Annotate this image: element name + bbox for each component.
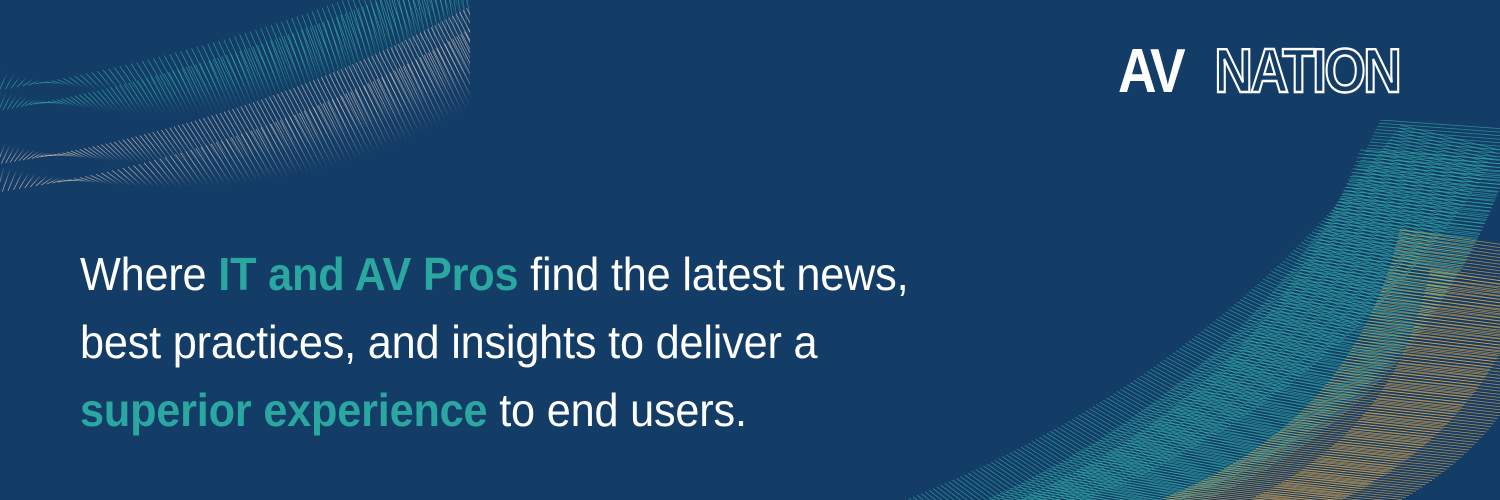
logo-text-nation: NATION (1214, 40, 1399, 104)
headline-line-2: best practices, and insights to deliver … (80, 308, 1039, 376)
headline-line1-segment-plain-b: find the latest news, (518, 248, 908, 300)
headline-block: Where IT and AV Pros find the latest new… (80, 240, 1100, 444)
logo-text-av: AV (1118, 40, 1186, 104)
headline-line2-segment-plain: best practices, and insights to deliver … (80, 316, 817, 368)
headline-line1-segment-plain-a: Where (80, 248, 218, 300)
headline-line1-segment-accent: IT and AV Pros (218, 248, 518, 300)
avnation-banner: AV NATION Where IT and AV Pros find the … (0, 0, 1500, 500)
avnation-logo[interactable]: AV NATION (1118, 40, 1454, 104)
headline-line3-segment-plain: to end users. (487, 384, 746, 436)
headline-line-3: superior experience to end users. (80, 376, 1039, 444)
headline-line-1: Where IT and AV Pros find the latest new… (80, 240, 1039, 308)
headline-line3-segment-accent: superior experience (80, 384, 487, 436)
avnation-logo-mark: AV NATION (1118, 40, 1454, 104)
